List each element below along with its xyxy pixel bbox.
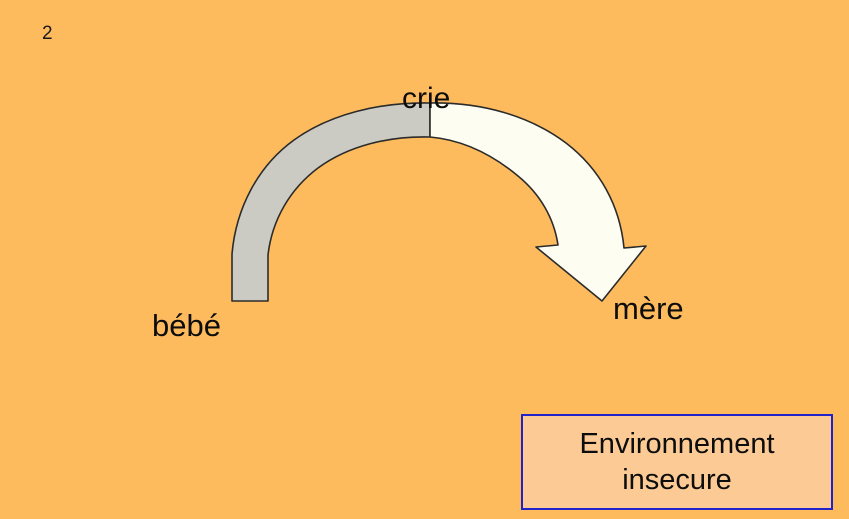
label-bebe: bébé xyxy=(152,310,221,341)
environment-callout-line-1: Environnement xyxy=(579,427,774,461)
label-crie: crie xyxy=(402,84,450,114)
slide-canvas: 2 crie bébé mère Environnement insecure xyxy=(0,0,849,519)
label-mere: mère xyxy=(613,293,684,324)
environment-callout-line-2: insecure xyxy=(622,463,732,497)
environment-callout-box: Environnement insecure xyxy=(521,414,833,510)
slide-number: 2 xyxy=(42,24,53,43)
